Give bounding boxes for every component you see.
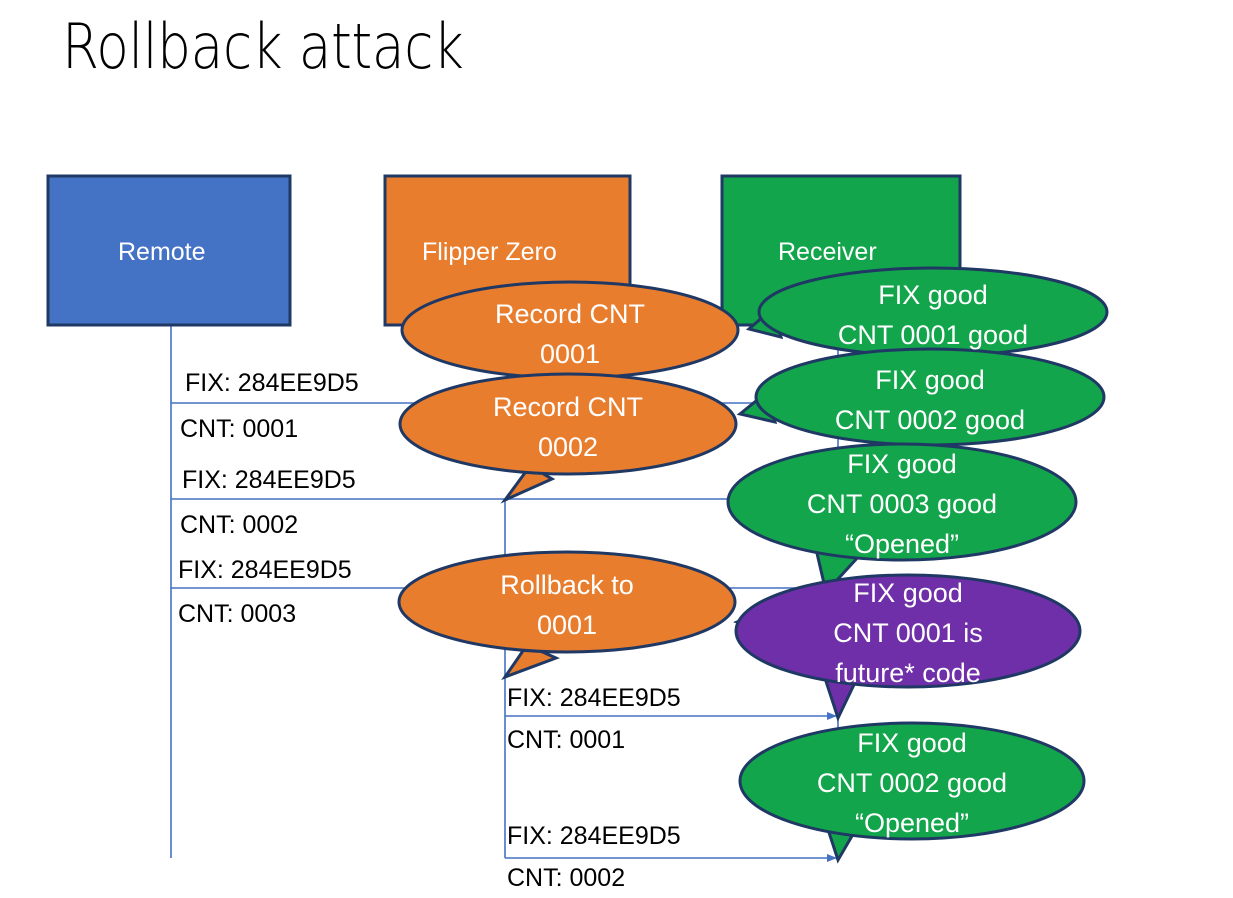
callout-rollback-0001[interactable] [399,552,735,677]
callout-recv-0002[interactable] [740,349,1104,445]
callout-recv-0003[interactable] [728,444,1076,592]
slide-canvas: Rollback attack Remote Flipper Zero Rece… [0,0,1233,898]
callout-recv-reject[interactable] [736,575,1080,718]
diagram-svg [0,0,1233,898]
lane-box-remote[interactable] [48,176,290,325]
callout-record-0001[interactable] [402,282,738,378]
page-title: Rollback attack [62,10,463,83]
callout-record-0002[interactable] [400,374,736,500]
callout-recv-final[interactable] [740,723,1084,860]
